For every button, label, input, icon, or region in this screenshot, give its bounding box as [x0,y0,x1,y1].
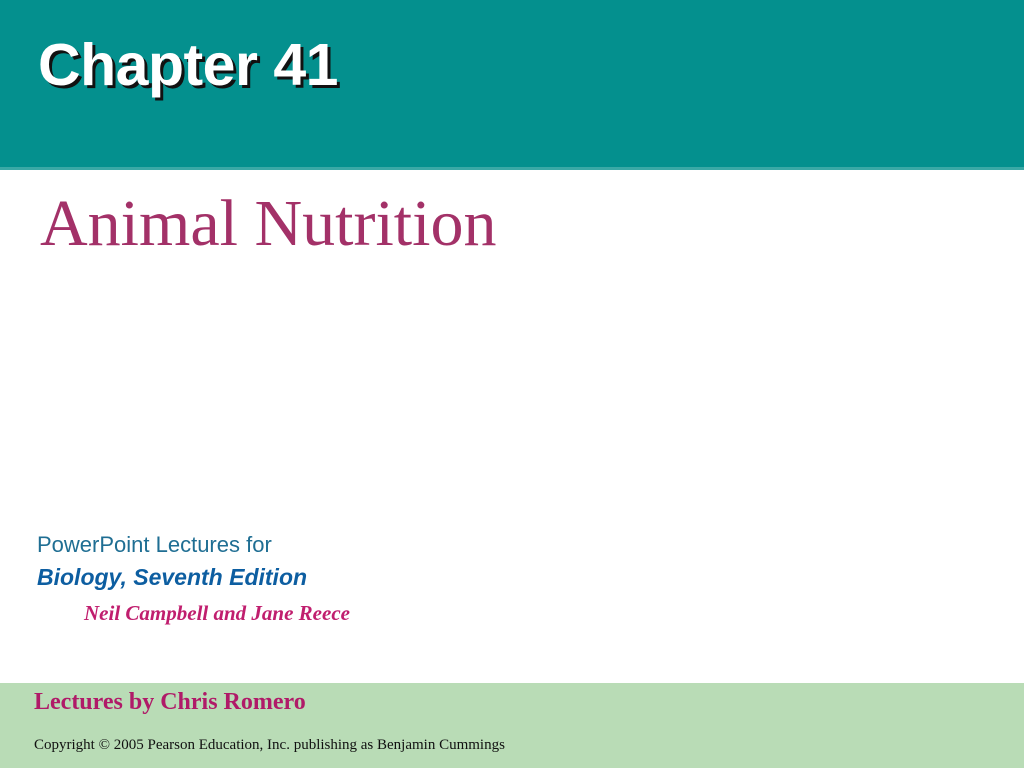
textbook-authors-label: Neil Campbell and Jane Reece [84,600,350,627]
textbook-title-label: Biology, Seventh Edition [37,561,350,594]
copyright-notice: Copyright © 2005 Pearson Education, Inc.… [34,737,505,754]
slide-title: Animal Nutrition [40,189,496,258]
chapter-number-heading: Chapter 41 [38,36,338,95]
slide-header-band: Chapter 41 [0,0,1024,170]
slide-footer-band: Lectures by Chris Romero Copyright © 200… [0,683,1024,768]
lecture-series-label: PowerPoint Lectures for [37,529,350,561]
attribution-block: PowerPoint Lectures for Biology, Seventh… [37,529,350,628]
lecturer-credit-label: Lectures by Chris Romero [34,689,306,716]
presentation-slide: Chapter 41 Animal Nutrition PowerPoint L… [0,0,1024,768]
